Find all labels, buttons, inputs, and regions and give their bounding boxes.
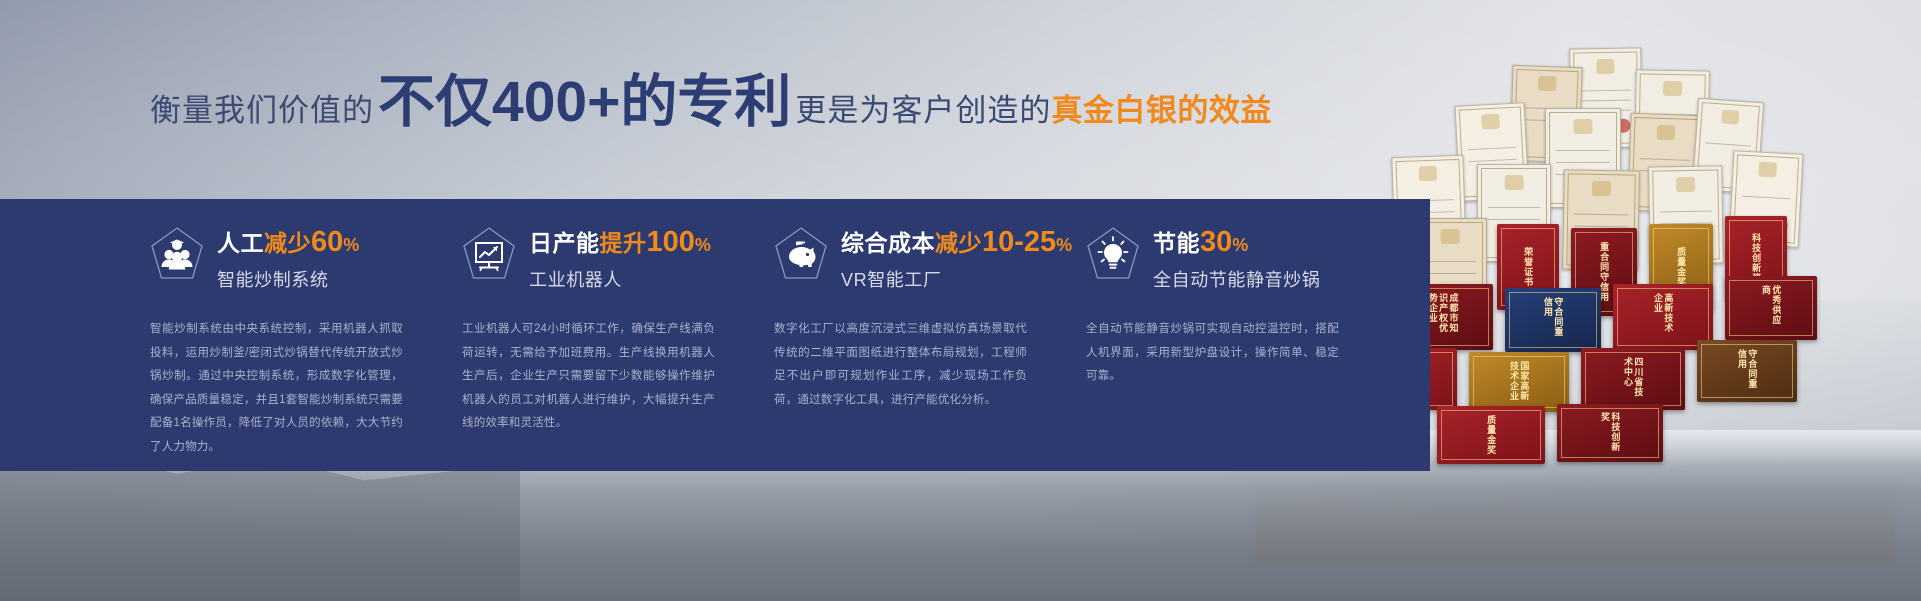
- feature-subtitle: 全自动节能静音炒锅: [1153, 266, 1320, 292]
- feature-title: 人工减少60%: [217, 228, 359, 257]
- features-panel: 人工减少60% 智能炒制系统 智能炒制系统由中央系统控制，采用机器人抓取投料，运…: [0, 199, 1430, 471]
- award-plaque-label: 守合同重信用: [1543, 297, 1564, 343]
- award-plaque: 优秀供应商: [1725, 276, 1817, 340]
- banner-stage: 荣誉证书 重合同守信用 质量金奖 科技创新奖 四川省知识产权试点企业 成都市知识…: [0, 0, 1921, 601]
- headline-highlight: 真金白银的效益: [1051, 85, 1272, 130]
- feature-title-number: 30: [1200, 226, 1232, 258]
- award-plaque-label: 质量金奖: [1486, 415, 1496, 455]
- feature-title: 综合成本减少10-25%: [841, 228, 1072, 257]
- feature-description: 数字化工厂以高度沉浸式三维虚拟仿真场景取代传统的二维平面图纸进行整体布局规划，工…: [774, 318, 1027, 412]
- feature-title-number: 100: [647, 226, 695, 258]
- award-plaque-label: 质量金奖: [1676, 247, 1686, 287]
- feature-title: 节能30%: [1153, 228, 1320, 257]
- award-plaque-label: 成都市知识产权优势企业: [1427, 293, 1458, 341]
- piggy-bank-icon: [774, 226, 828, 282]
- feature-description: 工业机器人可24小时循环工作，确保生产线满负荷运转，无需给予加班费用。生产线换用…: [462, 318, 715, 436]
- feature-description: 全自动节能静音炒锅可实现自动控温控时，搭配人机界面，采用新型炉盘设计，操作简单、…: [1086, 318, 1339, 389]
- feature-item-2: 日产能提升100% 工业机器人 工业机器人可24小时循环工作，确保生产线满负荷运…: [462, 199, 774, 471]
- people-group-icon: [150, 226, 204, 282]
- award-plaque-label: 国家高新技术企业: [1509, 361, 1530, 404]
- feature-title-main: 综合成本: [841, 230, 935, 256]
- award-plaque-label: 科技创新奖: [1600, 412, 1621, 453]
- feature-item-1: 人工减少60% 智能炒制系统 智能炒制系统由中央系统控制，采用机器人抓取投料，运…: [150, 199, 462, 471]
- headline-lead: 衡量我们价值的: [150, 85, 374, 130]
- headline-emphasis: 不仅400+的专利: [374, 74, 795, 131]
- page-headline: 衡量我们价值的 不仅400+的专利 更是为客户创造的 真金白银的效益: [150, 74, 1270, 136]
- feature-title: 日产能提升100%: [529, 228, 711, 257]
- feature-title-verb: 提升: [600, 230, 647, 256]
- award-plaque-label: 守合同重信用: [1737, 349, 1758, 394]
- feature-subtitle: VR智能工厂: [841, 266, 1072, 292]
- chart-board-icon: [462, 226, 516, 282]
- award-plaque-label: 优秀供应商: [1761, 285, 1782, 331]
- feature-title-percent: %: [1232, 235, 1248, 255]
- certificates-reflection: [1255, 470, 1895, 565]
- award-plaque-label: 四川省技术中心: [1623, 357, 1644, 402]
- feature-title-main: 节能: [1153, 230, 1200, 256]
- feature-item-3: 综合成本减少10-25% VR智能工厂 数字化工厂以高度沉浸式三维虚拟仿真场景取…: [774, 199, 1086, 471]
- feature-description: 智能炒制系统由中央系统控制，采用机器人抓取投料，运用炒制釜/密闭式炒锅替代传统开…: [150, 318, 403, 459]
- award-plaque: 守合同重信用: [1505, 288, 1601, 352]
- feature-title-number: 10-25: [982, 226, 1056, 258]
- award-plaque: 质量金奖: [1437, 406, 1545, 464]
- feature-title-verb: 减少: [264, 230, 311, 256]
- award-plaque: 国家高新技术企业: [1469, 352, 1569, 412]
- feature-title-verb: 减少: [935, 230, 982, 256]
- headline-middle: 更是为客户创造的: [795, 85, 1051, 130]
- award-plaque: 四川省技术中心: [1581, 348, 1685, 410]
- feature-title-main: 日产能: [529, 230, 600, 256]
- light-bulb-icon: [1086, 226, 1140, 282]
- award-plaque: 科技创新奖: [1557, 404, 1663, 462]
- feature-title-percent: %: [1056, 235, 1072, 255]
- feature-title-percent: %: [343, 235, 359, 255]
- feature-subtitle: 工业机器人: [529, 266, 711, 292]
- feature-title-percent: %: [695, 235, 711, 255]
- award-plaque: 守合同重信用: [1697, 340, 1797, 402]
- feature-subtitle: 智能炒制系统: [217, 266, 359, 292]
- award-plaque-label: 荣誉证书: [1523, 247, 1533, 287]
- feature-title-number: 60: [311, 226, 343, 258]
- feature-item-4: 节能30% 全自动节能静音炒锅 全自动节能静音炒锅可实现自动控温控时，搭配人机界…: [1086, 199, 1398, 471]
- award-plaque-label: 高新技术企业: [1653, 293, 1674, 341]
- feature-title-main: 人工: [217, 230, 264, 256]
